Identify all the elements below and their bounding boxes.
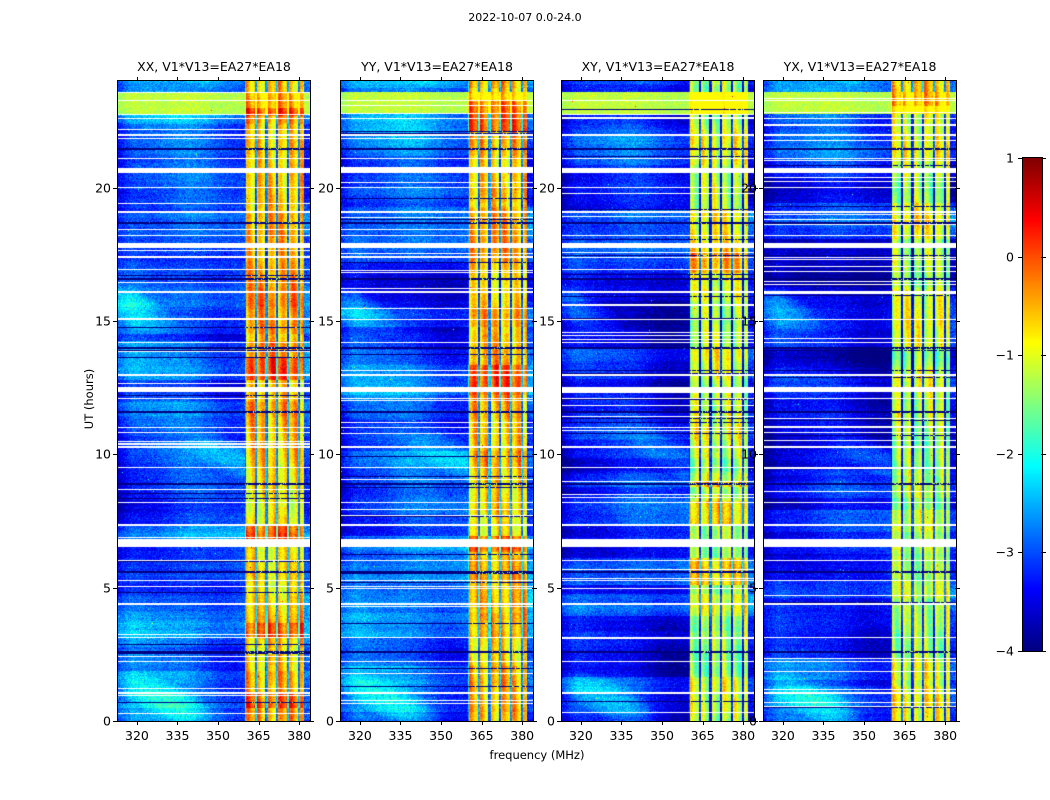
- y-tick-mark: [557, 454, 562, 455]
- x-tick-mark: [522, 721, 523, 725]
- y-tick-label: 15: [527, 314, 555, 329]
- x-tick-label: 335: [812, 728, 836, 743]
- x-tick-mark: [945, 721, 946, 725]
- waterfall-panel-yx: YX, V1*V13=EA27*EA1832033535036538005101…: [763, 80, 957, 722]
- figure-suptitle: 2022-10-07 0.0-24.0: [0, 11, 1050, 24]
- y-tick-label: 0: [306, 714, 334, 729]
- figure-canvas: 2022-10-07 0.0-24.0 UT (hours) frequency…: [0, 0, 1050, 800]
- x-tick-mark: [177, 721, 178, 725]
- x-tick-mark: [259, 721, 260, 725]
- x-tick-label: 350: [206, 728, 230, 743]
- x-tick-mark: [823, 721, 824, 725]
- y-tick-label: 10: [306, 447, 334, 462]
- x-tick-mark: [299, 721, 300, 725]
- waterfall-panel-xy: XY, V1*V13=EA27*EA1832033535036538005101…: [561, 80, 755, 722]
- x-tick-mark-top: [177, 77, 178, 81]
- y-tick-mark: [336, 321, 341, 322]
- x-tick-mark: [905, 721, 906, 725]
- x-tick-mark-top: [823, 77, 824, 81]
- colorbar-tick-label: −4: [982, 644, 1014, 659]
- y-tick-label: 20: [83, 180, 111, 195]
- y-tick-label: 20: [527, 180, 555, 195]
- x-tick-mark: [482, 721, 483, 725]
- panel-title-yy: YY, V1*V13=EA27*EA18: [361, 59, 513, 74]
- x-tick-mark-top: [581, 77, 582, 81]
- x-tick-mark: [581, 721, 582, 725]
- y-tick-label: 10: [729, 447, 757, 462]
- y-tick-mark: [759, 188, 764, 189]
- y-tick-mark: [336, 454, 341, 455]
- x-tick-mark-top: [743, 77, 744, 81]
- waterfall-panel-xx: XX, V1*V13=EA27*EA1832033535036538005101…: [117, 80, 311, 722]
- y-tick-mark: [113, 588, 118, 589]
- dynamic-spectrum-image-yy: [341, 81, 533, 721]
- colorbar-tick-label: −1: [982, 348, 1014, 363]
- colorbar-tick-mark-right: [1041, 651, 1046, 652]
- x-tick-label: 335: [610, 728, 634, 743]
- y-tick-mark: [557, 588, 562, 589]
- y-tick-mark-right: [955, 188, 960, 189]
- x-tick-mark-top: [703, 77, 704, 81]
- y-tick-label: 15: [306, 314, 334, 329]
- x-tick-mark-top: [259, 77, 260, 81]
- colorbar-tick-mark-right: [1041, 158, 1046, 159]
- x-tick-label: 320: [771, 728, 795, 743]
- x-tick-label: 320: [125, 728, 149, 743]
- colorbar-tick-mark: [1018, 552, 1023, 553]
- y-tick-label: 5: [729, 580, 757, 595]
- y-tick-label: 0: [83, 714, 111, 729]
- dynamic-spectrum-image-yx: [764, 81, 956, 721]
- y-tick-label: 10: [83, 447, 111, 462]
- colorbar-tick-label: −2: [982, 446, 1014, 461]
- colorbar-tick-mark: [1018, 257, 1023, 258]
- x-tick-label: 380: [731, 728, 755, 743]
- x-tick-mark: [703, 721, 704, 725]
- x-tick-label: 335: [166, 728, 190, 743]
- x-tick-mark: [360, 721, 361, 725]
- panel-title-xy: XY, V1*V13=EA27*EA18: [582, 59, 735, 74]
- x-tick-mark-top: [621, 77, 622, 81]
- x-tick-mark: [218, 721, 219, 725]
- y-tick-mark-right: [955, 321, 960, 322]
- y-tick-mark: [557, 188, 562, 189]
- colorbar-tick-mark-right: [1041, 552, 1046, 553]
- x-tick-label: 350: [852, 728, 876, 743]
- colorbar-tick-mark: [1018, 355, 1023, 356]
- colorbar-tick-mark: [1018, 454, 1023, 455]
- y-tick-mark: [113, 454, 118, 455]
- x-tick-mark: [662, 721, 663, 725]
- y-axis-label: UT (hours): [82, 339, 96, 459]
- waterfall-panel-yy: YY, V1*V13=EA27*EA1832033535036538005101…: [340, 80, 534, 722]
- panel-axes-xy[interactable]: [561, 80, 755, 722]
- colorbar-tick-mark: [1018, 158, 1023, 159]
- y-tick-mark: [336, 588, 341, 589]
- x-tick-mark: [441, 721, 442, 725]
- y-tick-label: 15: [83, 314, 111, 329]
- panel-axes-yx[interactable]: [763, 80, 957, 722]
- x-tick-mark: [400, 721, 401, 725]
- x-tick-mark-top: [482, 77, 483, 81]
- colorbar-tick-mark-right: [1041, 257, 1046, 258]
- colorbar-tick-mark-right: [1041, 454, 1046, 455]
- y-tick-mark: [759, 321, 764, 322]
- y-tick-label: 20: [729, 180, 757, 195]
- y-tick-label: 10: [527, 447, 555, 462]
- x-tick-mark-top: [662, 77, 663, 81]
- y-tick-mark: [557, 721, 562, 722]
- y-tick-mark-right: [955, 588, 960, 589]
- x-tick-label: 365: [893, 728, 917, 743]
- x-tick-label: 365: [247, 728, 271, 743]
- x-tick-mark: [864, 721, 865, 725]
- y-tick-mark: [336, 188, 341, 189]
- x-tick-mark: [783, 721, 784, 725]
- x-tick-mark-top: [522, 77, 523, 81]
- x-tick-mark-top: [945, 77, 946, 81]
- y-tick-mark: [336, 721, 341, 722]
- y-tick-mark-right: [955, 721, 960, 722]
- y-tick-mark: [759, 588, 764, 589]
- colorbar-tick-label: 1: [982, 151, 1014, 166]
- y-tick-mark: [759, 721, 764, 722]
- y-tick-label: 20: [306, 180, 334, 195]
- colorbar-tick-label: 0: [982, 249, 1014, 264]
- colorbar-tick-mark: [1018, 651, 1023, 652]
- colorbar[interactable]: [1022, 157, 1043, 652]
- x-tick-mark-top: [864, 77, 865, 81]
- x-tick-label: 350: [429, 728, 453, 743]
- x-tick-mark-top: [400, 77, 401, 81]
- dynamic-spectrum-image-xx: [118, 81, 310, 721]
- x-tick-label: 320: [348, 728, 372, 743]
- x-tick-mark-top: [783, 77, 784, 81]
- x-tick-mark: [137, 721, 138, 725]
- panel-axes-xx[interactable]: [117, 80, 311, 722]
- x-tick-label: 380: [510, 728, 534, 743]
- panel-title-yx: YX, V1*V13=EA27*EA18: [784, 59, 937, 74]
- y-tick-mark: [557, 321, 562, 322]
- y-tick-label: 0: [729, 714, 757, 729]
- x-tick-mark-top: [299, 77, 300, 81]
- panel-title-xx: XX, V1*V13=EA27*EA18: [137, 59, 291, 74]
- y-tick-mark: [113, 721, 118, 722]
- y-tick-label: 5: [306, 580, 334, 595]
- colorbar-gradient: [1023, 158, 1042, 651]
- x-tick-mark-top: [137, 77, 138, 81]
- x-tick-mark-top: [441, 77, 442, 81]
- x-axis-label: frequency (MHz): [490, 748, 585, 762]
- x-tick-label: 380: [933, 728, 957, 743]
- dynamic-spectrum-image-xy: [562, 81, 754, 721]
- colorbar-tick-label: −3: [982, 545, 1014, 560]
- y-tick-label: 0: [527, 714, 555, 729]
- y-tick-mark-right: [955, 454, 960, 455]
- x-tick-label: 320: [569, 728, 593, 743]
- y-tick-label: 15: [729, 314, 757, 329]
- x-tick-label: 335: [389, 728, 413, 743]
- x-tick-mark-top: [218, 77, 219, 81]
- x-tick-mark-top: [360, 77, 361, 81]
- y-tick-mark: [113, 188, 118, 189]
- x-tick-label: 350: [650, 728, 674, 743]
- y-tick-mark: [759, 454, 764, 455]
- x-tick-label: 365: [691, 728, 715, 743]
- panel-axes-yy[interactable]: [340, 80, 534, 722]
- x-tick-label: 365: [470, 728, 494, 743]
- y-tick-mark: [113, 321, 118, 322]
- y-tick-label: 5: [527, 580, 555, 595]
- colorbar-tick-mark-right: [1041, 355, 1046, 356]
- x-tick-mark: [621, 721, 622, 725]
- x-tick-label: 380: [287, 728, 311, 743]
- x-tick-mark-top: [905, 77, 906, 81]
- y-tick-label: 5: [83, 580, 111, 595]
